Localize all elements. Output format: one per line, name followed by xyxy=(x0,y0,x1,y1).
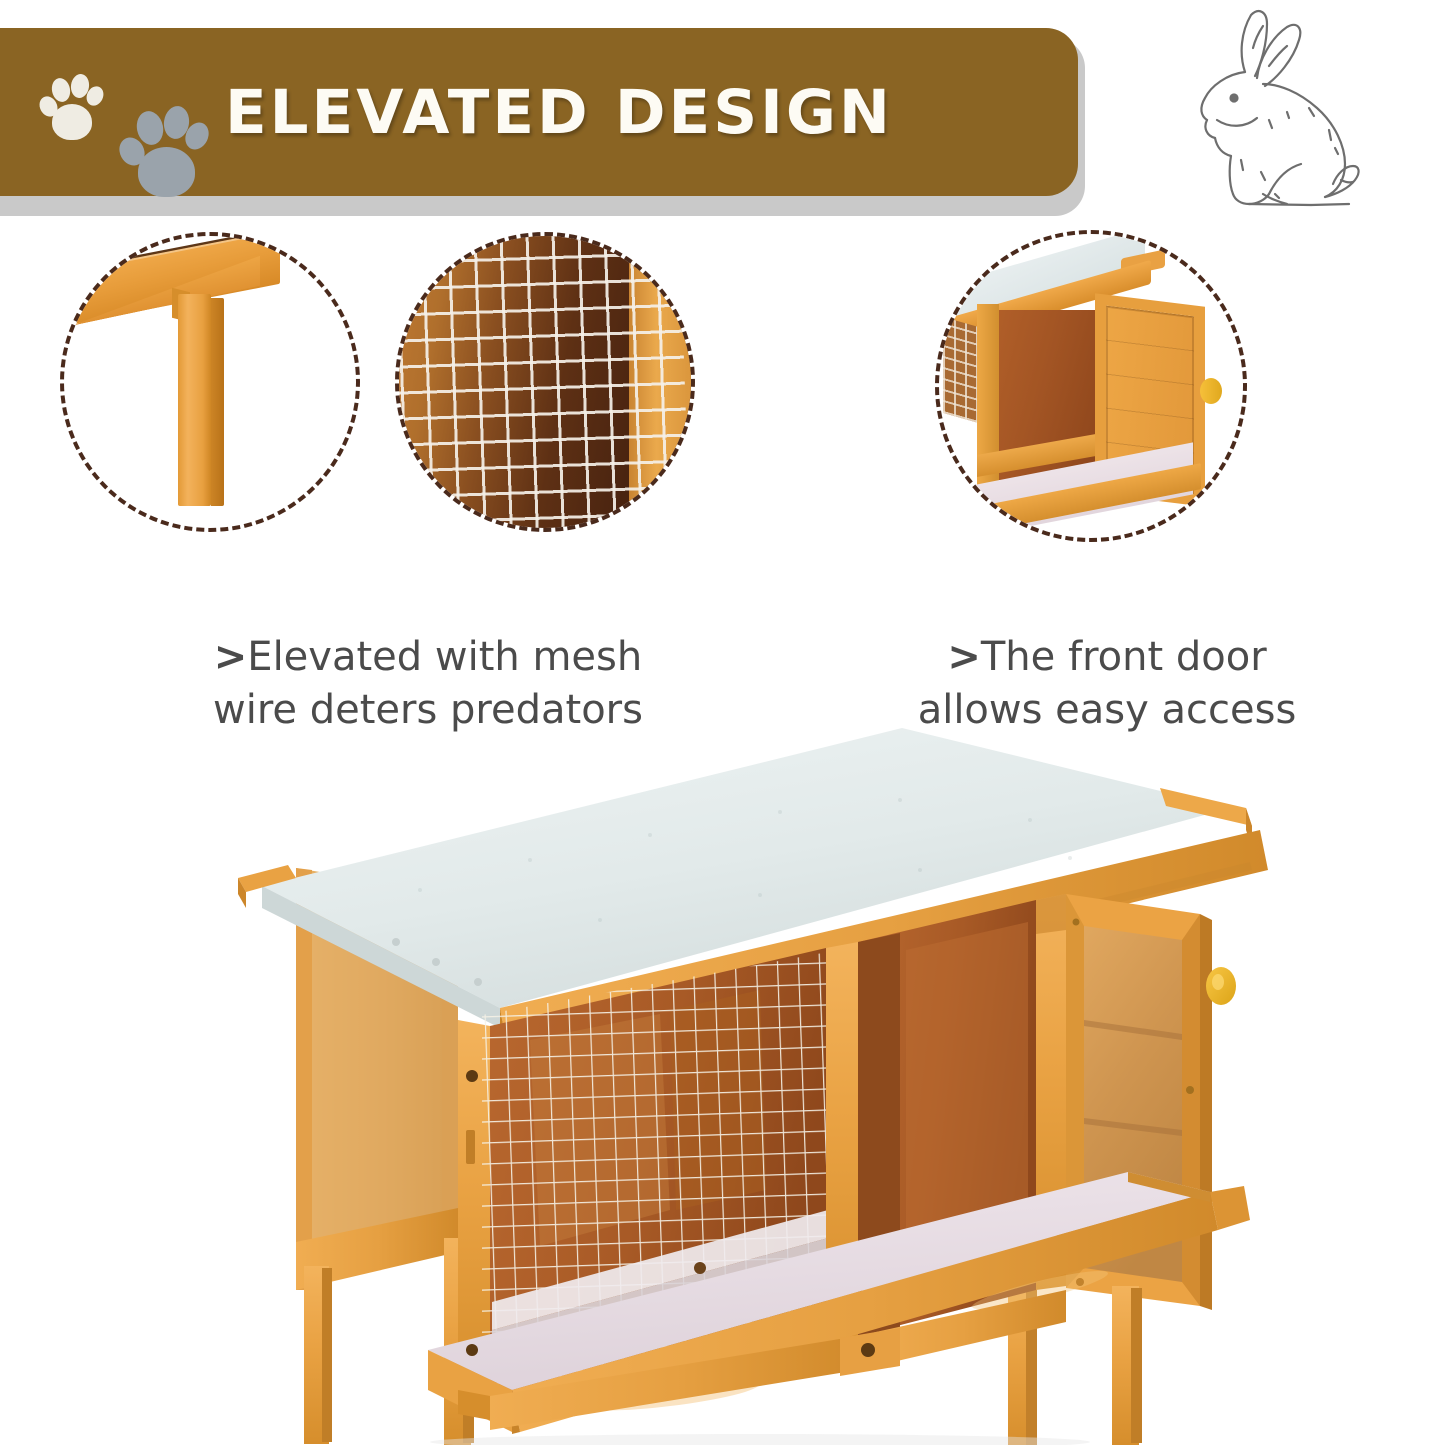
banner-plate: ELEVATED DESIGN xyxy=(0,28,1078,196)
feature-circle-wire-mesh xyxy=(395,232,695,532)
product-photo-rabbit-hutch xyxy=(200,690,1270,1445)
caption-chevron-right: > xyxy=(947,634,981,680)
infographic-page: ELEVATED DESIGN xyxy=(0,0,1445,1445)
feature-circle-elevated-leg xyxy=(60,232,360,532)
rabbit-line-art-icon xyxy=(1183,8,1423,220)
feature-circle-open-door xyxy=(935,230,1247,542)
header-banner: ELEVATED DESIGN xyxy=(0,28,1085,206)
caption-chevron-left: > xyxy=(214,634,248,680)
page-title: ELEVATED DESIGN xyxy=(0,28,1078,196)
